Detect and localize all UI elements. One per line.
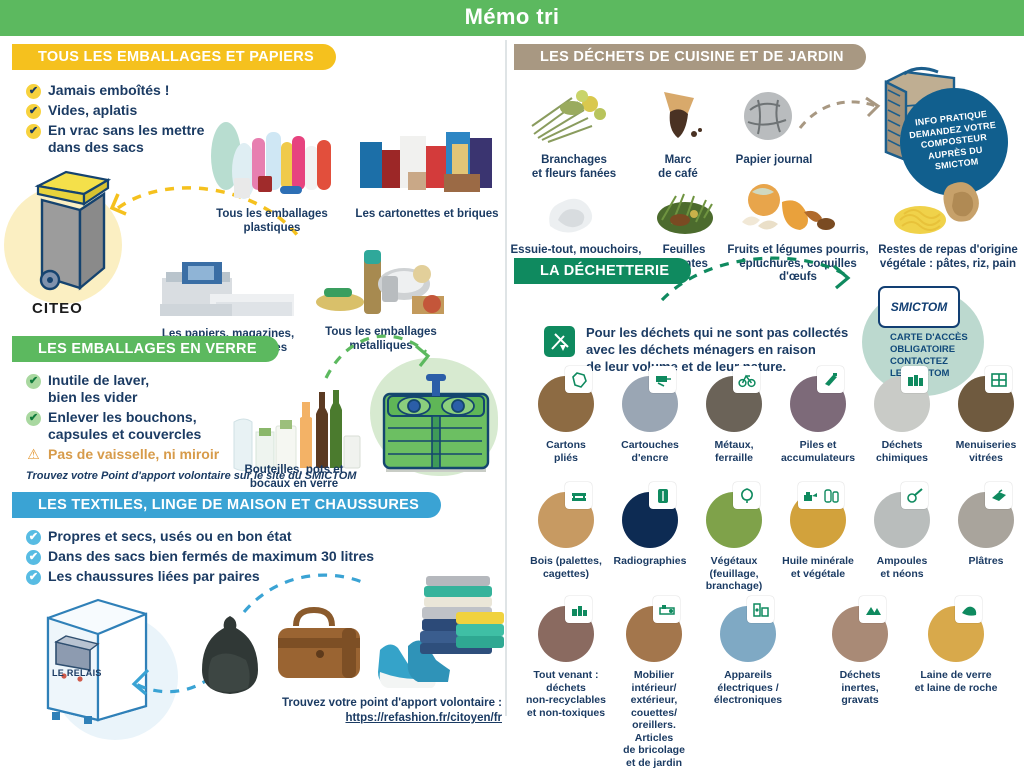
item-photo [626,606,682,662]
glass-bullets: ✔ Inutile de laver, bien les vider ✔ Enl… [26,372,256,466]
caption-cartons: Les cartonettes et briques [352,208,502,222]
dechetterie-item[interactable]: Déchets chimiques [860,376,944,464]
furniture-icon [653,596,680,623]
caption-leftovers: Restes de repas d'origine végétale : pât… [878,244,1018,271]
bullet-item: ✔ Propres et secs, usés ou en bon état [26,528,426,545]
textile-link-intro: Trouvez votre point d'apport volontaire … [230,696,502,711]
item-label: Mobilier intérieur/ extérieur, couettes/… [612,669,696,769]
bulky-icon [565,596,592,623]
item-label: Radiographies [608,555,692,568]
page-body: TOUS LES EMBALLAGES ET PAPIERS ✔ Jamais … [0,36,1024,724]
check-icon: ✔ [26,124,41,139]
dechetterie-item[interactable]: Ampoules et néons [860,492,944,580]
food-leftovers-photo [892,176,984,240]
dechetterie-item[interactable]: Tout venant : déchets non-recyclables et… [524,606,608,719]
dechetterie-item[interactable]: Cartouches d'encre [608,376,692,464]
textile-bag-photo [196,608,266,702]
item-photo [928,606,984,662]
textile-link-block: Trouvez votre point d'apport volontaire … [230,696,502,726]
dechetterie-item[interactable]: Métaux, ferraille [692,376,776,464]
fruit-vegetable-waste-photo [740,182,838,240]
dechetterie-item[interactable]: Plâtres [944,492,1024,568]
dechetterie-item[interactable]: Cartons pliés [524,376,608,464]
cartridge-icon [649,366,676,393]
item-label: Bois (palettes, cagettes) [524,555,608,580]
window-icon [985,366,1012,393]
dechetterie-item[interactable]: Menuiseries vitrées [944,376,1024,464]
citeo-logo: CITEO [32,300,83,317]
dechetterie-item[interactable]: Radiographies [608,492,692,568]
item-label: Tout venant : déchets non-recyclables et… [524,669,608,719]
item-label: Plâtres [944,555,1024,568]
item-photo [832,606,888,662]
dechetterie-item[interactable]: Végétaux (feuillage, branchage) [692,492,776,593]
pallet-icon [565,482,592,509]
caption-plastics: Tous les emballages plastiques [198,208,346,235]
wool-icon [955,596,982,623]
item-label: Laine de verre et laine de roche [914,669,998,694]
newspaper-ball-photo [740,88,798,144]
item-photo [790,492,846,548]
page-title: Mémo tri [0,4,1024,30]
dechetterie-item[interactable]: Déchets inertes, gravats [818,606,902,707]
tree-icon [733,482,760,509]
item-photo [538,606,594,662]
plaster-icon [985,482,1012,509]
glass-note: Trouvez votre Point d'apport volontaire … [26,470,356,482]
column-divider [505,40,507,716]
bulb-icon [901,482,928,509]
dechetterie-item[interactable]: Bois (palettes, cagettes) [524,492,608,580]
item-photo [874,376,930,432]
item-photo [720,606,776,662]
appliance-icon [747,596,774,623]
dechetterie-intro: Pour les déchets qui ne sont pas collect… [586,324,848,375]
item-label: Déchets inertes, gravats [818,669,902,707]
carton-packaging-photo [356,124,496,206]
le-relais-label: LE RELAIS [52,668,102,678]
paper-photo [158,254,298,326]
item-label: Menuiseries vitrées [944,439,1024,464]
metal-packaging-photo [312,248,452,324]
caption-coffee: Marc de café [642,154,714,181]
item-label: Cartons pliés [524,439,608,464]
check-icon: ✔ [26,530,41,545]
rubble-icon [859,596,886,623]
leather-bag-photo [268,604,372,688]
item-photo [706,376,762,432]
item-label: Appareils électriques / électroniques [706,669,790,707]
bullet-item: ✔ Les chaussures liées par paires [26,568,426,585]
item-photo [538,492,594,548]
item-label: Déchets chimiques [860,439,944,464]
item-label: Ampoules et néons [860,555,944,580]
check-icon: ✔ [26,374,41,389]
warning-item: ⚠ Pas de vaisselle, ni miroir [26,446,256,463]
leaves-grass-photo [654,186,716,238]
item-photo [958,376,1014,432]
branches-flowers-photo [528,88,620,144]
bullet-item: ✔ Inutile de laver, bien les vider [26,372,256,406]
item-photo [622,492,678,548]
check-icon: ✔ [26,84,41,99]
section-header-glass: LES EMBALLAGES EN VERRE [12,336,279,362]
dechetterie-item[interactable]: Appareils électriques / électroniques [706,606,790,707]
folded-clothes-photo [420,572,504,668]
item-photo [706,492,762,548]
check-icon: ✔ [26,550,41,565]
caption-branches: Branchages et fleurs fanées [514,154,634,181]
item-label: Piles et accumulateurs [776,439,860,464]
dashed-arrow-green-glass [322,322,442,390]
plastic-packaging-photo [206,116,336,206]
section-header-packaging: TOUS LES EMBALLAGES ET PAPIERS [12,44,336,70]
item-photo [622,376,678,432]
caption-newspaper: Papier journal [728,154,820,168]
chemicals-icon [901,366,928,393]
glass-bottles-photo [226,388,362,474]
paper-towel-photo [540,186,598,238]
bullet-item: ✔ Jamais emboîtés ! [26,82,251,99]
map-icon [565,366,592,393]
dechetterie-item[interactable]: Mobilier intérieur/ extérieur, couettes/… [612,606,696,769]
item-photo [958,492,1014,548]
section-header-kitchen-garden: LES DÉCHETS DE CUISINE ET DE JARDIN [514,44,866,70]
dechetterie-icon [544,326,575,357]
top-banner: Mémo tri [0,0,1024,36]
bicycle-icon [733,366,760,393]
section-header-textiles: LES TEXTILES, LINGE DE MAISON ET CHAUSSU… [12,492,441,518]
item-photo [874,492,930,548]
battery-icon [817,366,844,393]
check-icon: ✔ [26,104,41,119]
yellow-lid-bin-illustration [20,164,116,300]
item-label: Cartouches d'encre [608,439,692,464]
bullet-item: ✔ Enlever les bouchons, capsules et couv… [26,409,256,443]
dashed-arrow-composter [796,94,882,138]
smictom-card: SMICTOM [878,286,960,328]
coffee-grounds-photo [648,88,710,144]
warning-triangle-icon: ⚠ [26,447,41,462]
dechetterie-item[interactable]: Huile minérale et végétale [776,492,860,580]
dechetterie-item[interactable]: Piles et accumulateurs [776,376,860,464]
xray-icon [649,482,676,509]
item-photo [538,376,594,432]
check-icon: ✔ [26,411,41,426]
item-photo [790,376,846,432]
item-label: Végétaux (feuillage, branchage) [692,555,776,593]
dashed-arrow-green-card [658,248,858,308]
check-icon: ✔ [26,570,41,585]
bullet-item: ✔ Dans des sacs bien fermés de maximum 3… [26,548,426,565]
smictom-card-brand: SMICTOM [891,300,947,314]
textiles-bullets: ✔ Propres et secs, usés ou en bon état ✔… [26,528,426,588]
oil-can-icon [798,482,844,509]
item-label: Métaux, ferraille [692,439,776,464]
item-label: Huile minérale et végétale [776,555,860,580]
dechetterie-item[interactable]: Laine de verre et laine de roche [914,606,998,694]
